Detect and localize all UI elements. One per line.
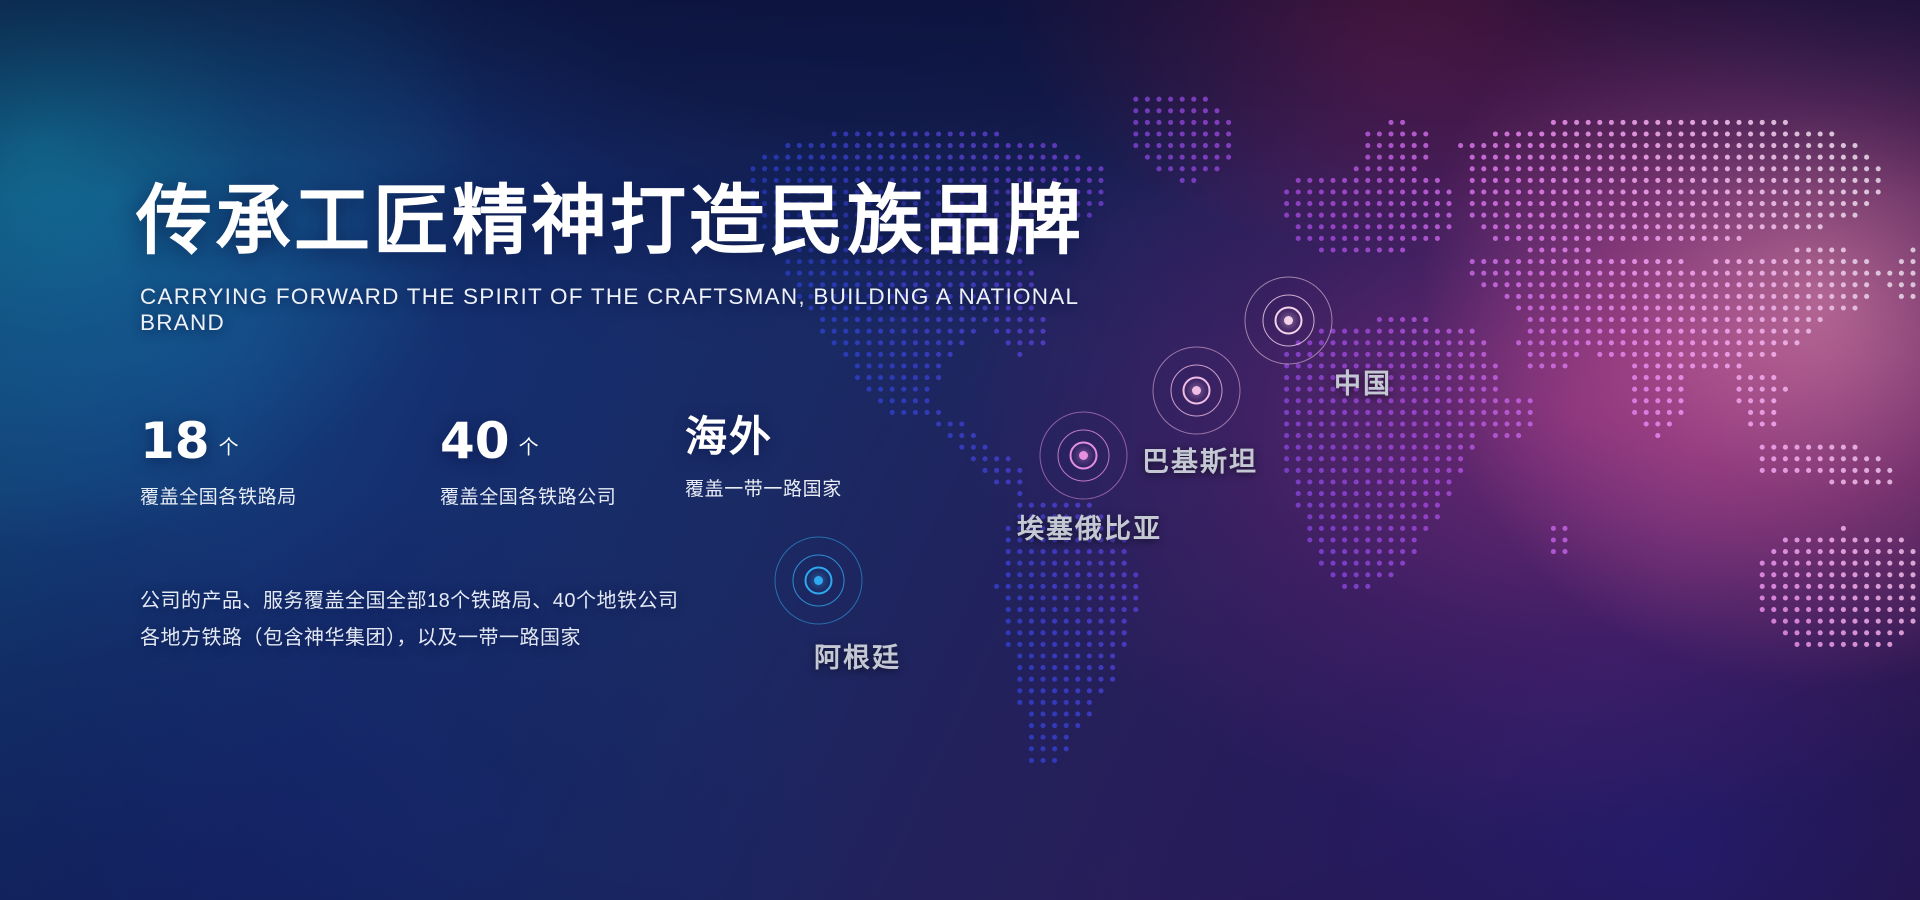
- hero-content: 传承工匠精神打造民族品牌 CARRYING FORWARD THE SPIRIT…: [136, 180, 1136, 657]
- map-marker-label: 巴基斯坦: [1142, 440, 1258, 479]
- stat-value: 40: [440, 416, 510, 466]
- stat-value-row: 18 个: [140, 416, 440, 466]
- stats-row: 18 个 覆盖全国各铁路局 40 个 覆盖全国各铁路公司 海外 覆盖一带一路国家: [140, 416, 1136, 509]
- stat-value-row: 海外: [685, 416, 842, 458]
- hero-description: 公司的产品、服务覆盖全国全部18个铁路局、40个地铁公司 各地方铁路（包含神华集…: [140, 583, 1136, 657]
- stat-value-row: 40 个: [440, 416, 685, 466]
- stat-unit: 个: [519, 431, 539, 460]
- stat-description: 覆盖全国各铁路局: [140, 482, 440, 509]
- hero-banner: 中国巴基斯坦埃塞俄比亚阿根廷 传承工匠精神打造民族品牌 CARRYING FOR…: [0, 0, 1920, 900]
- stat-description: 覆盖一带一路国家: [685, 474, 842, 501]
- page-subtitle: CARRYING FORWARD THE SPIRIT OF THE CRAFT…: [140, 284, 1136, 336]
- hero-description-line: 各地方铁路（包含神华集团），以及一带一路国家: [140, 620, 1136, 657]
- stat-unit: 个: [219, 431, 239, 460]
- stat-item: 海外 覆盖一带一路国家: [685, 416, 842, 509]
- map-marker-label: 中国: [1334, 362, 1392, 401]
- stat-item: 18 个 覆盖全国各铁路局: [140, 416, 440, 509]
- hero-description-line: 公司的产品、服务覆盖全国全部18个铁路局、40个地铁公司: [140, 583, 1136, 620]
- stat-value: 18: [140, 416, 210, 466]
- stat-value: 海外: [685, 416, 773, 458]
- stat-description: 覆盖全国各铁路公司: [440, 482, 685, 509]
- page-title: 传承工匠精神打造民族品牌: [136, 180, 1136, 262]
- stat-item: 40 个 覆盖全国各铁路公司: [440, 416, 685, 509]
